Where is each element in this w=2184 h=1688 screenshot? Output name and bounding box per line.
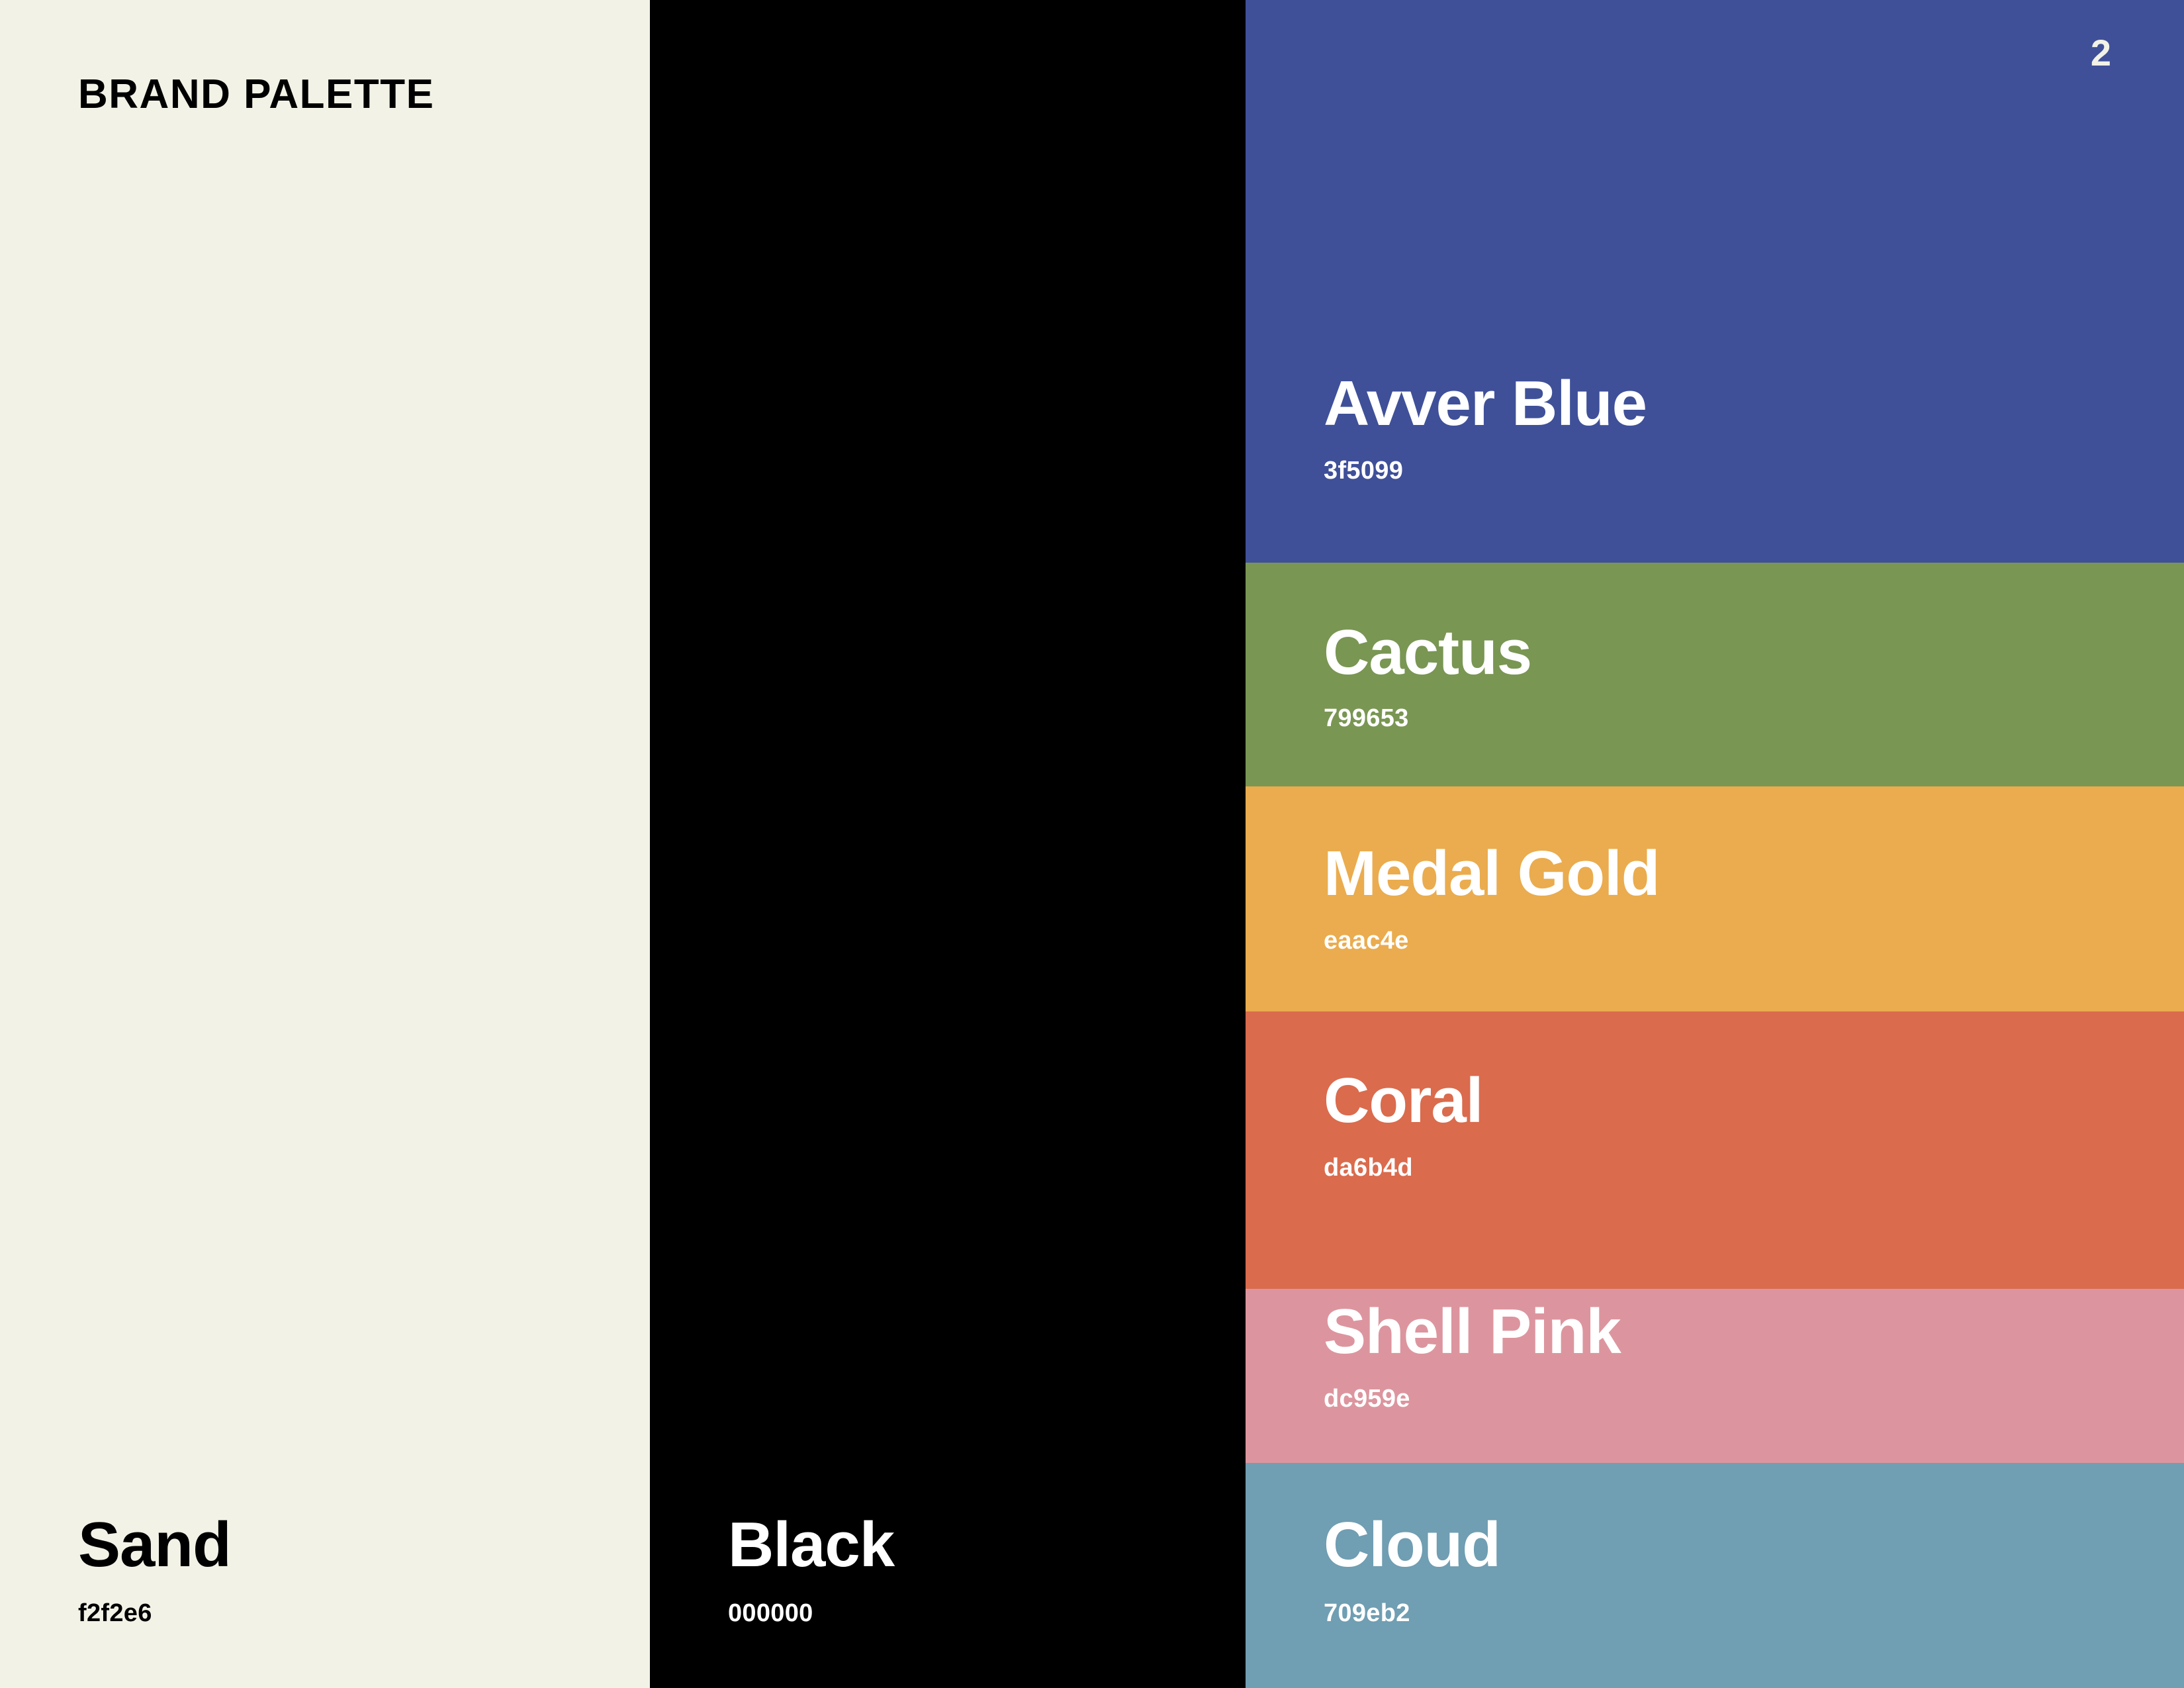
sand-color-column: BRAND PALETTE Sand f2f2e6 — [0, 0, 650, 1688]
swatch-color-name: Cloud — [1324, 1513, 1500, 1577]
swatch-coral: Coral da6b4d — [1246, 1011, 2184, 1289]
black-color-column: Black 000000 — [650, 0, 1246, 1688]
swatch-avver-blue: Avver Blue 3f5099 — [1246, 0, 2184, 563]
sand-color-hex: f2f2e6 — [78, 1601, 152, 1626]
swatch-color-hex: 709eb2 — [1324, 1601, 1410, 1626]
swatch-cactus: Cactus 799653 — [1246, 563, 2184, 786]
brand-palette-slide: BRAND PALETTE Sand f2f2e6 Black 000000 2… — [0, 0, 2184, 1688]
page-number: 2 — [2091, 34, 2111, 71]
black-color-name: Black — [728, 1513, 894, 1577]
swatch-color-name: Shell Pink — [1324, 1300, 1621, 1364]
swatch-color-hex: eaac4e — [1324, 928, 1409, 953]
black-color-hex: 000000 — [728, 1601, 813, 1626]
page-title: BRAND PALETTE — [78, 74, 434, 115]
swatch-color-name: Avver Blue — [1324, 372, 1647, 436]
swatch-shell-pink: Shell Pink dc959e — [1246, 1289, 2184, 1463]
swatch-color-hex: dc959e — [1324, 1386, 1410, 1411]
accent-color-stack: 2 Avver Blue 3f5099 Cactus 799653 Medal … — [1246, 0, 2184, 1688]
sand-color-name: Sand — [78, 1513, 231, 1577]
swatch-medal-gold: Medal Gold eaac4e — [1246, 786, 2184, 1011]
swatch-color-hex: 3f5099 — [1324, 458, 1403, 483]
swatch-color-hex: 799653 — [1324, 706, 1409, 731]
swatch-color-name: Coral — [1324, 1069, 1482, 1133]
swatch-cloud: Cloud 709eb2 — [1246, 1463, 2184, 1688]
swatch-color-name: Medal Gold — [1324, 842, 1659, 906]
swatch-color-name: Cactus — [1324, 621, 1531, 684]
swatch-color-hex: da6b4d — [1324, 1155, 1413, 1180]
